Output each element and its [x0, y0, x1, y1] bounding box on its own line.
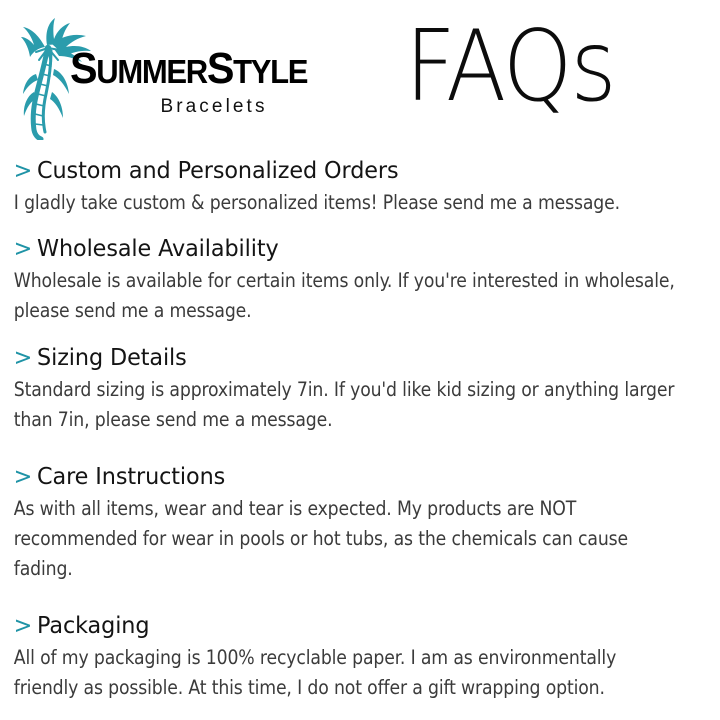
wordmark-ummer: UMMER — [96, 53, 207, 90]
faq-item-packaging: >Packaging All of my packaging is 100% r… — [0, 611, 720, 703]
wordmark-s1: S — [70, 44, 96, 93]
chevron-right-icon: > — [14, 464, 37, 490]
faq-heading: >Care Instructions — [0, 462, 698, 493]
faq-heading-label: Care Instructions — [37, 464, 225, 490]
faq-heading: >Custom and Personalized Orders — [0, 156, 698, 187]
brand-logo: SUMMERSTYLE Bracelets — [10, 12, 310, 140]
faq-body: As with all items, wear and tear is expe… — [0, 493, 709, 584]
faq-heading-label: Packaging — [37, 613, 149, 639]
faq-body: Wholesale is available for certain items… — [0, 265, 709, 326]
spacer — [0, 435, 720, 462]
chevron-right-icon: > — [14, 613, 37, 639]
faq-body: I gladly take custom & personalized item… — [0, 187, 709, 218]
spacer — [0, 218, 720, 234]
faq-item-care: >Care Instructions As with all items, we… — [0, 462, 720, 584]
faq-list: >Custom and Personalized Orders I gladly… — [0, 156, 720, 703]
faq-item-sizing: >Sizing Details Standard sizing is appro… — [0, 343, 720, 435]
faq-heading-label: Wholesale Availability — [37, 236, 279, 262]
faq-page: SUMMERSTYLE Bracelets FAQs >Custom and P… — [0, 0, 720, 720]
brand-tagline: Bracelets — [134, 96, 294, 118]
faq-heading: >Packaging — [0, 611, 698, 642]
faq-item-custom-orders: >Custom and Personalized Orders I gladly… — [0, 156, 720, 218]
faq-heading-label: Sizing Details — [37, 345, 187, 371]
spacer — [0, 584, 720, 611]
page-title: FAQs — [405, 10, 617, 122]
brand-wordmark: SUMMERSTYLE — [70, 44, 296, 94]
faq-body: Standard sizing is approximately 7in. If… — [0, 374, 709, 435]
faq-heading-label: Custom and Personalized Orders — [37, 158, 398, 184]
chevron-right-icon: > — [14, 345, 37, 371]
chevron-right-icon: > — [14, 236, 37, 262]
chevron-right-icon: > — [14, 158, 37, 184]
faq-heading: >Sizing Details — [0, 343, 698, 374]
faq-item-wholesale: >Wholesale Availability Wholesale is ava… — [0, 234, 720, 326]
faq-heading: >Wholesale Availability — [0, 234, 698, 265]
faq-body: All of my packaging is 100% recyclable p… — [0, 642, 709, 703]
wordmark-s2: S — [207, 44, 233, 93]
spacer — [0, 326, 720, 343]
page-header: SUMMERSTYLE Bracelets FAQs — [0, 0, 720, 150]
wordmark-tyle: TYLE — [233, 53, 307, 90]
